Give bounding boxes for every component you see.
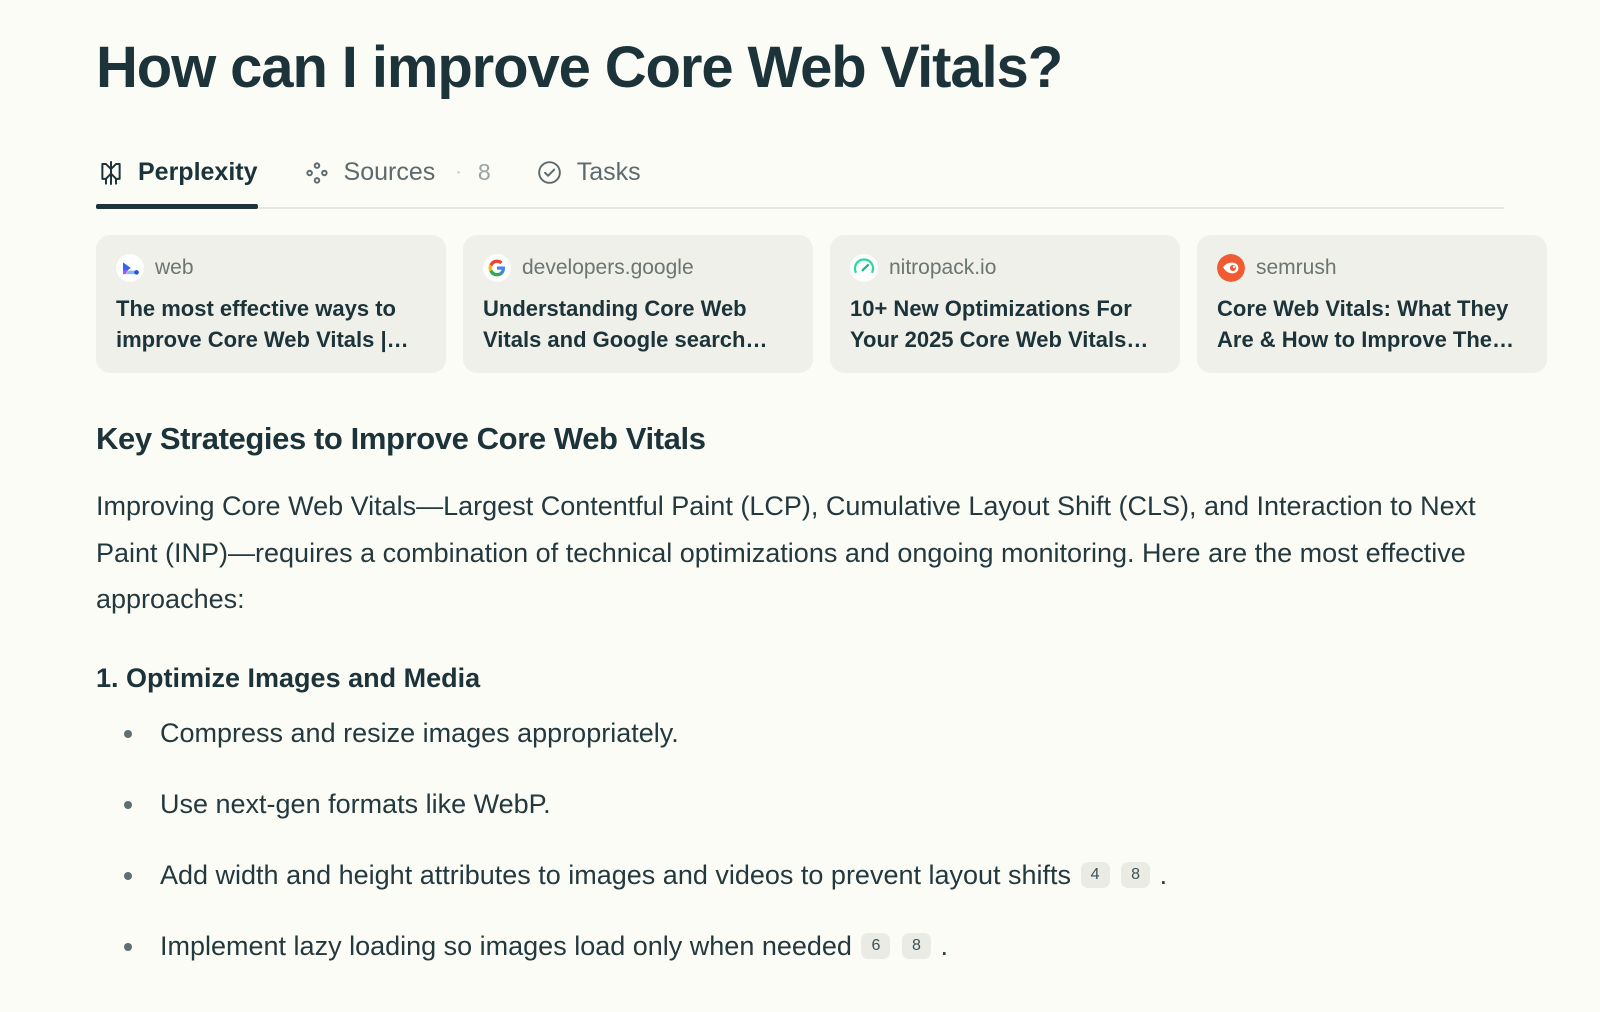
list-item-text: Use next-gen formats like WebP. <box>160 789 551 819</box>
tab-perplexity[interactable]: Perplexity <box>96 137 280 209</box>
source-title: The most effective ways to improve Core … <box>116 293 426 355</box>
source-card-header: nitropack.io <box>850 253 1160 283</box>
citation-badge[interactable]: 8 <box>1121 862 1150 888</box>
source-card-header: web <box>116 253 426 283</box>
source-card[interactable]: nitropack.io 10+ New Optimizations For Y… <box>830 235 1180 373</box>
perplexity-logo-icon <box>96 158 126 188</box>
page-title: How can I improve Core Web Vitals? <box>96 0 1600 101</box>
tab-bar: Perplexity Sources · 8 <box>96 137 1600 209</box>
answer-body: Key Strategies to Improve Core Web Vital… <box>96 421 1600 964</box>
check-circle-icon <box>535 158 565 188</box>
tab-sources[interactable]: Sources · 8 <box>302 137 513 209</box>
semrush-favicon-icon <box>1217 254 1245 282</box>
list-item-tail: . <box>1160 860 1168 890</box>
tab-tasks[interactable]: Tasks <box>535 137 663 209</box>
source-domain: semrush <box>1256 256 1337 280</box>
source-domain: developers.google <box>522 256 694 280</box>
answer-page: How can I improve Core Web Vitals? Perpl… <box>0 0 1600 1012</box>
source-cards-row: web The most effective ways to improve C… <box>96 235 1568 373</box>
citation-badge[interactable]: 4 <box>1081 862 1110 888</box>
section-heading-1: 1. Optimize Images and Media <box>96 663 1504 694</box>
source-card[interactable]: web The most effective ways to improve C… <box>96 235 446 373</box>
list-item: Add width and height attributes to image… <box>96 858 1504 893</box>
list-item-text: Implement lazy loading so images load on… <box>160 931 852 961</box>
tab-count: 8 <box>478 159 491 186</box>
list-item-tail: . <box>940 931 948 961</box>
source-card[interactable]: developers.google Understanding Core Web… <box>463 235 813 373</box>
list-item-text: Add width and height attributes to image… <box>160 860 1071 890</box>
answer-intro-paragraph: Improving Core Web Vitals—Largest Conten… <box>96 483 1504 623</box>
source-domain: nitropack.io <box>889 256 996 280</box>
list-item: Use next-gen formats like WebP. <box>96 787 1504 822</box>
source-title: 10+ New Optimizations For Your 2025 Core… <box>850 293 1160 355</box>
nitropack-favicon-icon <box>850 254 878 282</box>
section-1-bullet-list: Compress and resize images appropriately… <box>96 716 1504 964</box>
list-item: Implement lazy loading so images load on… <box>96 929 1504 964</box>
tab-active-indicator <box>96 204 258 209</box>
source-title: Understanding Core Web Vitals and Google… <box>483 293 793 355</box>
source-domain: web <box>155 256 194 280</box>
tab-label: Sources <box>344 158 436 187</box>
citation-badge[interactable]: 8 <box>902 933 931 959</box>
source-card-header: semrush <box>1217 253 1527 283</box>
list-item: Compress and resize images appropriately… <box>96 716 1504 751</box>
tab-label: Perplexity <box>138 158 258 187</box>
list-item-text: Compress and resize images appropriately… <box>160 718 679 748</box>
sources-dots-icon <box>302 158 332 188</box>
citation-badge[interactable]: 6 <box>861 933 890 959</box>
google-favicon-icon <box>483 254 511 282</box>
answer-heading: Key Strategies to Improve Core Web Vital… <box>96 421 1504 457</box>
source-title: Core Web Vitals: What They Are & How to … <box>1217 293 1527 355</box>
webdev-favicon-icon <box>116 254 144 282</box>
tab-separator: · <box>455 161 462 184</box>
tab-label: Tasks <box>577 158 641 187</box>
source-card-header: developers.google <box>483 253 793 283</box>
source-card[interactable]: semrush Core Web Vitals: What They Are &… <box>1197 235 1547 373</box>
